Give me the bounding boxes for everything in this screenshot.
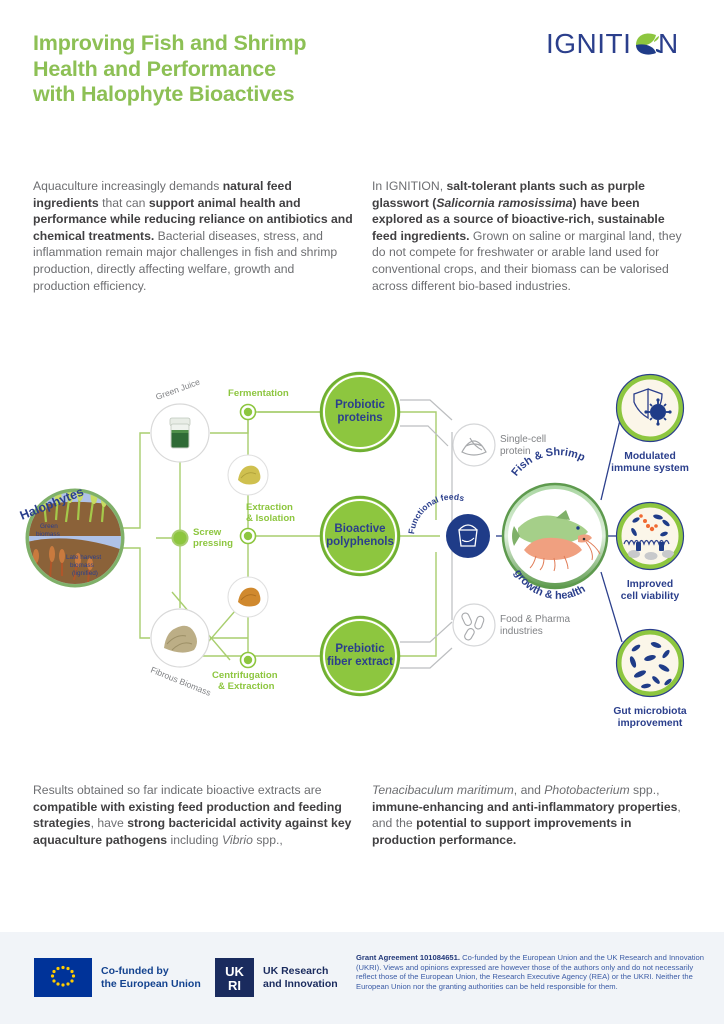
late-harvest-label-3: (lignified) bbox=[72, 570, 98, 577]
single-cell-protein-label-1: Single-cell bbox=[500, 434, 546, 445]
process-node-fermentation: Fermentation bbox=[228, 388, 289, 420]
title-line-2: Health and Performance bbox=[33, 57, 413, 83]
ukri-logo-icon: UK RI bbox=[215, 958, 254, 997]
product-bioactive-polyphenols: Bioactive polyphenols bbox=[321, 497, 399, 575]
fibrous-biomass-label: Fibrous Biomass bbox=[149, 665, 212, 698]
product-prebiotic-fiber-extract: Prebiotic fiber extract bbox=[321, 617, 399, 695]
fermentation-label: Fermentation bbox=[228, 388, 289, 399]
green-juice-label: Green Juice bbox=[154, 377, 201, 402]
eu-text-line-1: Co-funded by bbox=[101, 965, 201, 978]
ukri-text-line-2: and Innovation bbox=[263, 978, 338, 991]
outcome-2-label-2: cell viability bbox=[621, 591, 680, 602]
process-node-centrifugation: Centrifugation & Extraction bbox=[212, 653, 278, 693]
grant-agreement-text: Grant Agreement 101084651. Co-funded by … bbox=[356, 953, 704, 991]
footer: Co-funded by the European Union UK RI UK… bbox=[0, 932, 724, 1024]
late-harvest-label-1: Late harvest bbox=[66, 554, 101, 561]
outcome-modulated-immune-system: Modulated immune system bbox=[611, 375, 689, 475]
ignition-logo-svg: IGNITI N bbox=[546, 28, 692, 62]
outcome-1-label-2: immune system bbox=[611, 463, 689, 474]
centrifugation-label-1: Centrifugation bbox=[212, 670, 278, 681]
infographic-page: Improving Fish and Shrimp Health and Per… bbox=[0, 0, 724, 1024]
results-paragraph-left: Results obtained so far indicate bioacti… bbox=[33, 782, 353, 848]
outcome-3-label-1: Gut microbiota bbox=[613, 706, 686, 717]
ukri-text-line-1: UK Research bbox=[263, 965, 338, 978]
green-juice-node: Green Juice bbox=[151, 377, 209, 462]
substance-node-yellow bbox=[228, 455, 268, 495]
bioactive-polyphenols-label-2: polyphenols bbox=[326, 536, 394, 548]
probiotic-proteins-label-2: proteins bbox=[337, 412, 382, 424]
side-output-food-pharma: Food & Pharma industries bbox=[453, 604, 570, 646]
substance-node-orange bbox=[228, 577, 268, 617]
centrifugation-label-2: & Extraction bbox=[218, 681, 275, 692]
eu-flag-icon bbox=[34, 958, 92, 997]
intro-paragraph-right: In IGNITION, salt-tolerant plants such a… bbox=[372, 178, 692, 294]
svg-text:N: N bbox=[658, 28, 678, 59]
food-pharma-label-1: Food & Pharma bbox=[500, 614, 570, 625]
screw-pressing-label-2: pressing bbox=[193, 538, 233, 549]
prebiotic-fiber-label-2: fiber extract bbox=[327, 656, 393, 668]
single-cell-protein-label-2: protein bbox=[500, 446, 531, 457]
process-node-screw-pressing: Screw pressing bbox=[173, 527, 234, 549]
eu-funding-block: Co-funded by the European Union bbox=[34, 958, 201, 997]
eu-text-line-2: the European Union bbox=[101, 978, 201, 991]
food-pharma-label-2: industries bbox=[500, 626, 543, 637]
late-harvest-label-2: biomass bbox=[70, 562, 94, 569]
prebiotic-fiber-label-1: Prebiotic bbox=[335, 643, 385, 655]
svg-text:UK: UK bbox=[225, 964, 244, 979]
probiotic-proteins-label-1: Probiotic bbox=[335, 399, 385, 411]
outcome-1-label-1: Modulated bbox=[624, 451, 675, 462]
bioactive-polyphenols-label-1: Bioactive bbox=[334, 523, 385, 535]
process-node-extraction: Extraction & Isolation bbox=[241, 502, 296, 544]
outcome-gut-microbiota-improvement: Gut microbiota improvement bbox=[613, 630, 686, 730]
green-juice-icon bbox=[170, 418, 190, 448]
extraction-label-1: Extraction bbox=[246, 502, 293, 513]
green-biomass-label-1: Green bbox=[40, 523, 58, 530]
outcome-2-label-1: Improved bbox=[627, 579, 673, 590]
halophytes-source: Halophytes Green biomass Late harvest bi… bbox=[18, 483, 123, 586]
ukri-funding-block: UK RI UK Research and Innovation bbox=[215, 958, 338, 997]
diagram-connectors-grey bbox=[400, 400, 452, 668]
svg-text:RI: RI bbox=[228, 978, 241, 993]
outcome-3-label-2: improvement bbox=[618, 718, 683, 729]
intro-paragraph-left: Aquaculture increasingly demands natural… bbox=[33, 178, 353, 294]
ignition-logo: IGNITI N bbox=[546, 28, 692, 62]
header: Improving Fish and Shrimp Health and Per… bbox=[0, 0, 724, 160]
process-diagram-svg: Halophytes Green biomass Late harvest bi… bbox=[0, 360, 724, 732]
fish-shrimp-target: Fish & Shrimp growth & health bbox=[503, 446, 607, 602]
process-diagram: Halophytes Green biomass Late harvest bi… bbox=[0, 360, 724, 732]
functional-feeds-node: Functional feeds bbox=[406, 492, 490, 558]
eu-funding-text: Co-funded by the European Union bbox=[101, 965, 201, 991]
green-biomass-label-2: biomass bbox=[36, 531, 60, 538]
results-paragraph-right: Tenacibaculum maritimum, and Photobacter… bbox=[372, 782, 692, 848]
fibrous-biomass-node: Fibrous Biomass bbox=[149, 609, 212, 698]
extraction-label-2: & Isolation bbox=[246, 513, 295, 524]
title-line-1: Improving Fish and Shrimp bbox=[33, 31, 413, 57]
ukri-funding-text: UK Research and Innovation bbox=[263, 965, 338, 991]
product-probiotic-proteins: Probiotic proteins bbox=[321, 373, 399, 451]
svg-text:IGNITI: IGNITI bbox=[546, 28, 631, 59]
outcome-improved-cell-viability: Improved cell viability bbox=[617, 503, 684, 603]
screw-pressing-label-1: Screw bbox=[193, 527, 222, 538]
title-line-3: with Halophyte Bioactives bbox=[33, 82, 413, 108]
page-title: Improving Fish and Shrimp Health and Per… bbox=[33, 31, 413, 108]
